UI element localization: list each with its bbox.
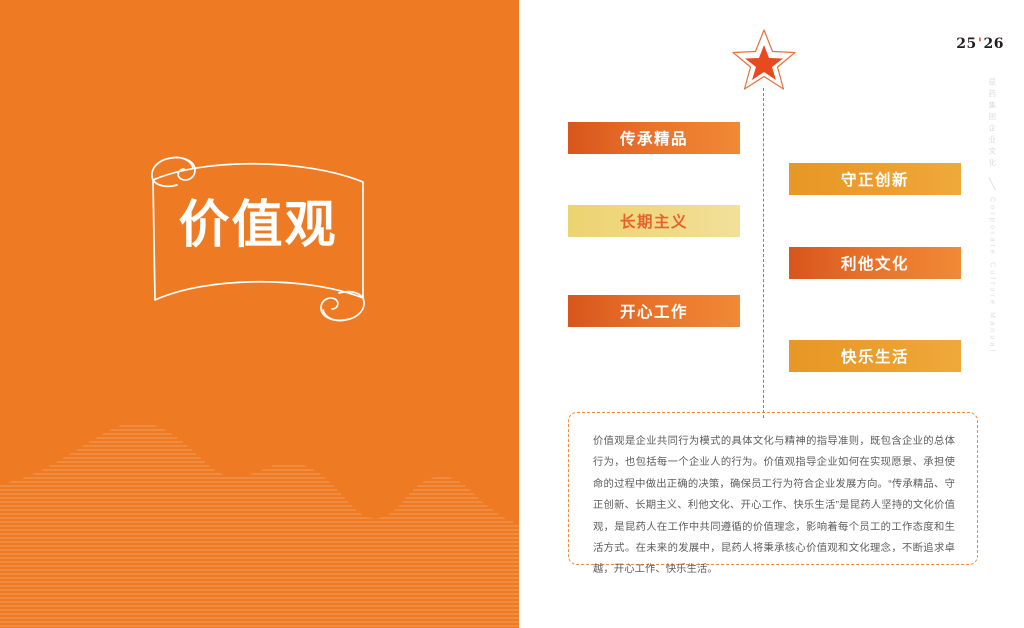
badge-label: 传承精品 (620, 127, 688, 149)
value-badge-chuancheng-jingpin[interactable]: 传承精品 (568, 122, 740, 154)
dashed-vertical-line-icon (763, 88, 764, 418)
star-icon (732, 28, 796, 94)
value-badge-kaixin-gongzuo[interactable]: 开心工作 (568, 295, 740, 327)
mountain-wave-lines-icon (0, 408, 519, 628)
page-number-left: 25 (956, 36, 976, 52)
content-panel: 25'26 昆药集团企业文化 Corporate Culture Manual … (519, 0, 1024, 628)
value-badge-changqi-zhuyi[interactable]: 长期主义 (568, 205, 740, 237)
badge-label: 快乐生活 (841, 345, 909, 367)
badge-shadow (569, 152, 800, 167)
value-badge-lita-wenhua[interactable]: 利他文化 (789, 247, 961, 279)
badge-label: 长期主义 (620, 210, 688, 232)
side-label-english: Corporate Culture Manual (989, 197, 996, 354)
badge-shadow (790, 370, 1021, 385)
description-box: 价值观是企业共同行为模式的具体文化与精神的指导准则，既包含企业的总体行为，也包括… (568, 412, 978, 565)
side-label-group: 昆药集团企业文化 Corporate Culture Manual (985, 78, 999, 354)
badge-label: 开心工作 (620, 300, 688, 322)
value-badge-kuaile-shenghuo[interactable]: 快乐生活 (789, 340, 961, 372)
cover-panel: 价值观 (0, 0, 519, 628)
side-label-chinese: 昆药集团企业文化 (988, 78, 996, 170)
page-number: 25'26 (956, 36, 1004, 52)
scroll-banner: 价值观 (133, 148, 383, 328)
badge-label: 守正创新 (841, 168, 909, 190)
slash-divider-icon (987, 177, 997, 191)
page-title: 价值观 (133, 200, 383, 251)
value-badge-shouzheng-chuangxin[interactable]: 守正创新 (789, 163, 961, 195)
slide-page: 价值观 25'26 昆药集团企业文化 Corporate Culture Man… (0, 0, 1024, 628)
page-number-right: 26 (984, 36, 1004, 52)
page-number-separator: ' (977, 36, 984, 52)
description-text: 价值观是企业共同行为模式的具体文化与精神的指导准则，既包含企业的总体行为，也包括… (593, 431, 955, 581)
badge-shadow (569, 235, 800, 250)
badge-shadow (569, 325, 800, 340)
badge-label: 利他文化 (841, 252, 909, 274)
